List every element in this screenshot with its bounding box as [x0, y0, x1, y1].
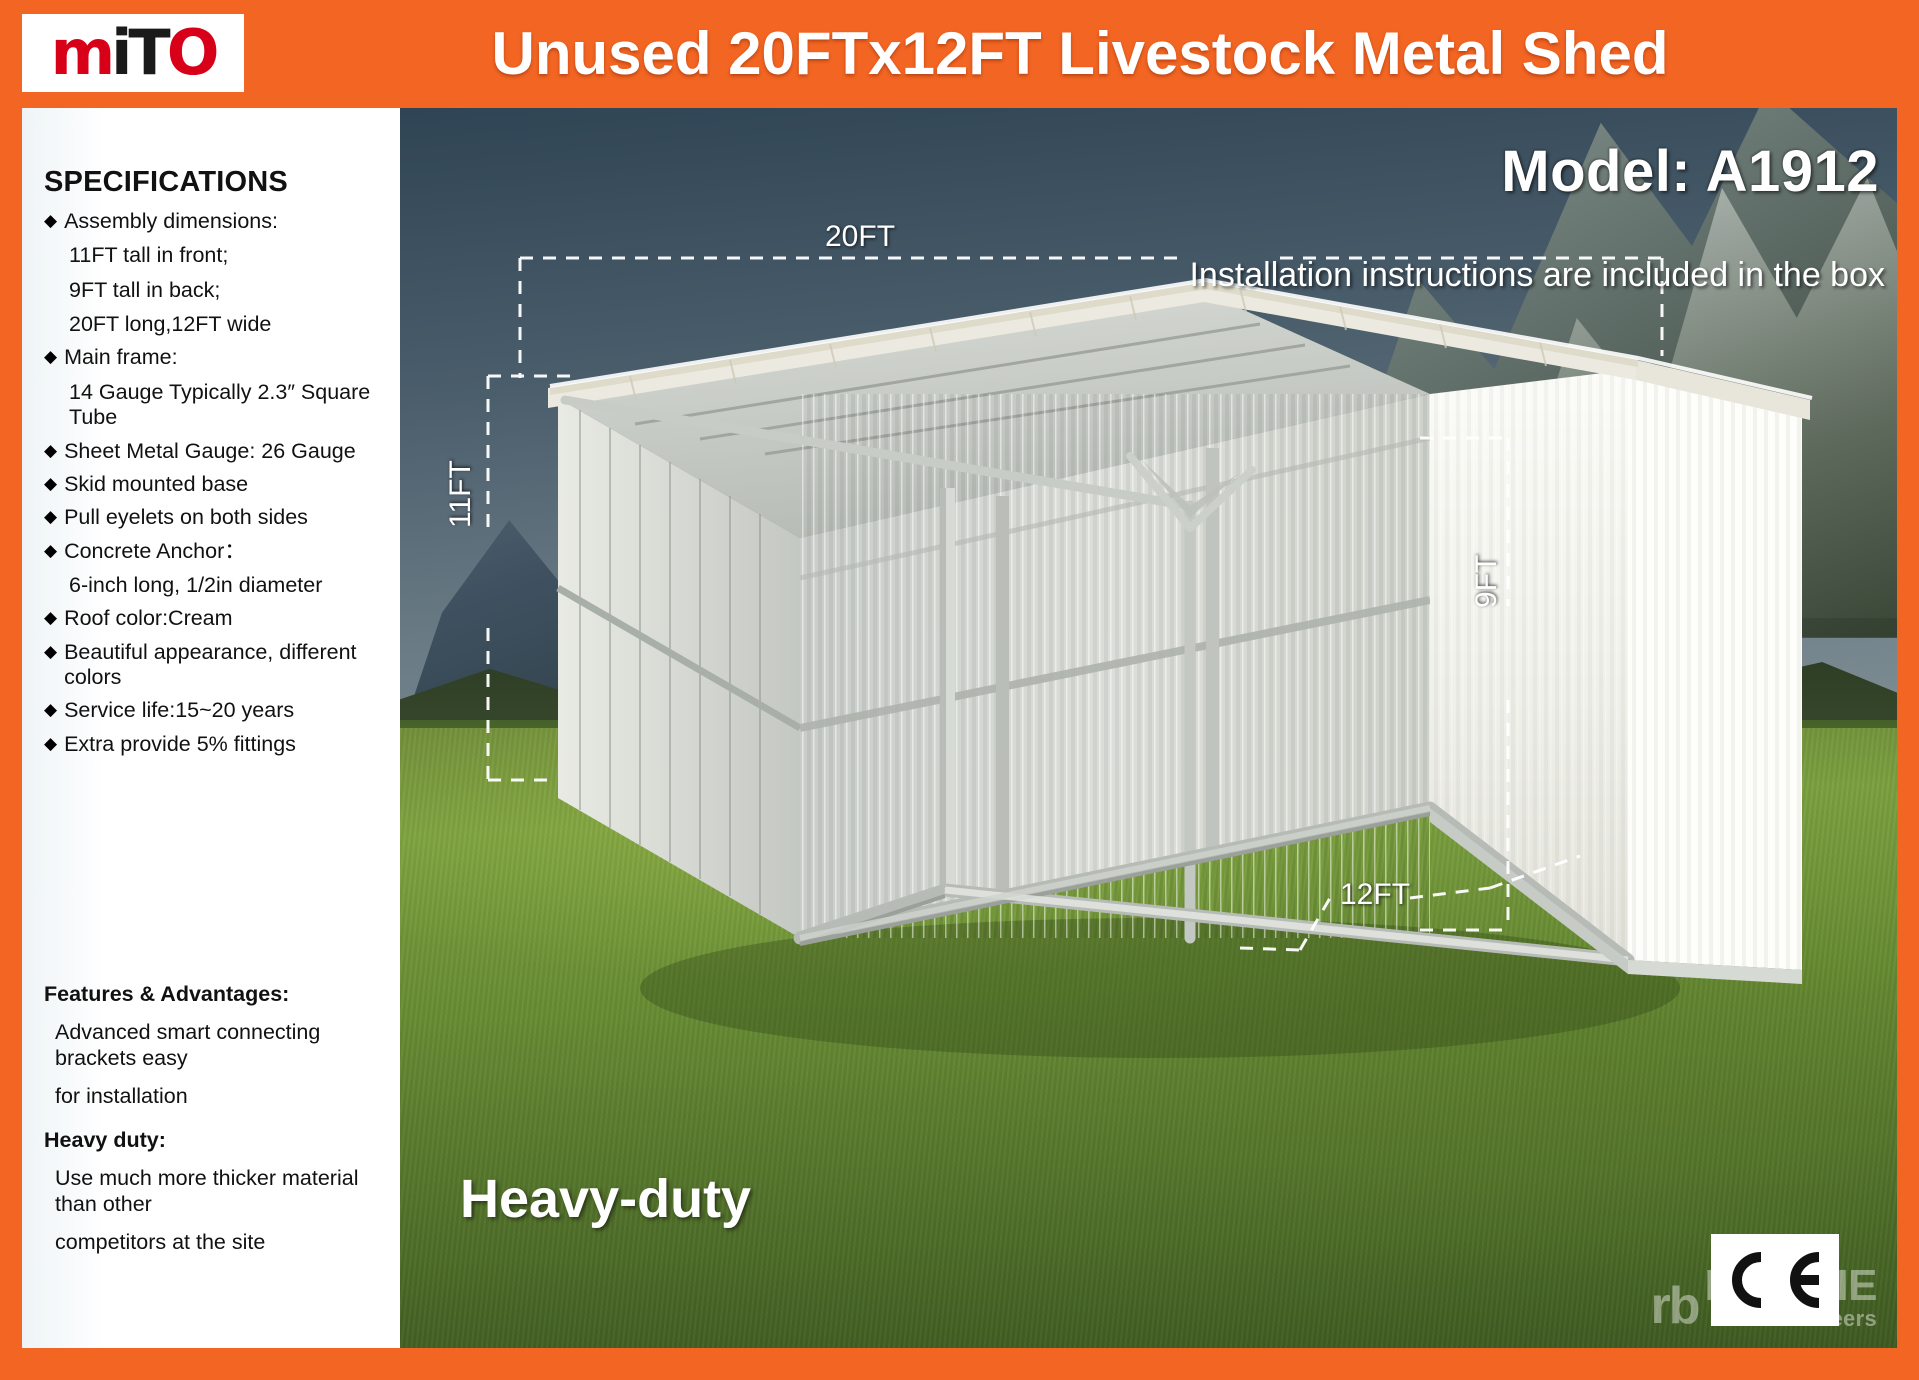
specifications-heading: SPECIFICATIONS	[44, 166, 390, 199]
header-bar: miTO Unused 20FTx12FT Livestock Metal Sh…	[0, 0, 1919, 108]
spec-label: Roof color:Cream	[64, 606, 232, 631]
heavy-duty-badge: Heavy-duty	[460, 1168, 751, 1230]
features-line: Advanced smart connecting brackets easy	[44, 1019, 394, 1071]
dimension-label-width: 12FT	[1340, 878, 1410, 912]
spec-label: Skid mounted base	[64, 472, 248, 497]
diamond-bullet-icon: ◆	[44, 472, 57, 496]
spec-item: ◆ Pull eyelets on both sides	[44, 505, 390, 530]
installation-note: Installation instructions are included i…	[1189, 256, 1885, 295]
spec-label: Concrete Anchor：	[64, 539, 246, 564]
footer-bar	[0, 1348, 1919, 1380]
ce-mark	[1711, 1234, 1839, 1326]
logo-part-o: O	[167, 16, 216, 89]
spec-label: Sheet Metal Gauge: 26 Gauge	[64, 439, 356, 464]
features-line: for installation	[44, 1083, 394, 1109]
model-label: Model: A1912	[1501, 138, 1879, 205]
logo-wordmark: miTO	[51, 22, 216, 84]
diamond-bullet-icon: ◆	[44, 209, 57, 233]
product-photo: 20FT 11FT 9FT 12FT Model: A1912 Installa…	[400, 108, 1897, 1348]
ce-mark-icon	[1721, 1249, 1829, 1311]
features-advantages-block: Features & Advantages: Advanced smart co…	[44, 978, 394, 1255]
spec-item: ◆ Assembly dimensions:	[44, 209, 390, 234]
spec-subline: 6-inch long, 1/2in diameter	[44, 573, 390, 598]
heavy-duty-line: Use much more thicker material than othe…	[44, 1165, 394, 1217]
heavy-duty-heading: Heavy duty:	[44, 1128, 394, 1153]
spec-item: ◆ Extra provide 5% fittings	[44, 732, 390, 757]
diamond-bullet-icon: ◆	[44, 505, 57, 529]
spec-item: ◆ Skid mounted base	[44, 472, 390, 497]
spec-label: Main frame:	[64, 345, 178, 370]
spec-item: ◆ Roof color:Cream	[44, 606, 390, 631]
specifications-panel: SPECIFICATIONS ◆ Assembly dimensions: 11…	[22, 108, 400, 1348]
dimension-label-length: 20FT	[825, 220, 895, 254]
rb-logo-mark: rb	[1651, 1283, 1699, 1330]
spec-label: Assembly dimensions:	[64, 209, 278, 234]
diamond-bullet-icon: ◆	[44, 539, 57, 563]
diamond-bullet-icon: ◆	[44, 640, 57, 664]
product-spec-sheet: miTO Unused 20FTx12FT Livestock Metal Sh…	[0, 0, 1919, 1380]
mito-logo: miTO	[22, 14, 244, 92]
spec-subline: 14 Gauge Typically 2.3″ Square Tube	[44, 380, 390, 431]
spec-item: ◆ Beautiful appearance, different colors	[44, 640, 390, 691]
diamond-bullet-icon: ◆	[44, 345, 57, 369]
spec-label: Service life:15~20 years	[64, 698, 294, 723]
spec-item: ◆ Concrete Anchor：	[44, 539, 390, 564]
dimension-label-front-height: 11FT	[444, 460, 478, 528]
spec-label: Pull eyelets on both sides	[64, 505, 308, 530]
logo-part-it: iT	[111, 16, 167, 89]
page-title: Unused 20FTx12FT Livestock Metal Shed	[300, 16, 1860, 92]
spec-subline: 11FT tall in front;	[44, 243, 390, 268]
spec-item: ◆ Service life:15~20 years	[44, 698, 390, 723]
heavy-duty-line: competitors at the site	[44, 1229, 394, 1255]
spec-item: ◆ Sheet Metal Gauge: 26 Gauge	[44, 439, 390, 464]
diamond-bullet-icon: ◆	[44, 698, 57, 722]
diamond-bullet-icon: ◆	[44, 439, 57, 463]
spec-subline: 20FT long,12FT wide	[44, 312, 390, 337]
features-heading: Features & Advantages:	[44, 982, 394, 1007]
logo-part-m: m	[51, 16, 112, 89]
spec-item: ◆ Main frame:	[44, 345, 390, 370]
spec-subline: 9FT tall in back;	[44, 278, 390, 303]
spec-label: Beautiful appearance, different colors	[64, 640, 390, 691]
diamond-bullet-icon: ◆	[44, 606, 57, 630]
diamond-bullet-icon: ◆	[44, 732, 57, 756]
spec-label: Extra provide 5% fittings	[64, 732, 296, 757]
dimension-label-back-height: 9FT	[1470, 555, 1504, 608]
